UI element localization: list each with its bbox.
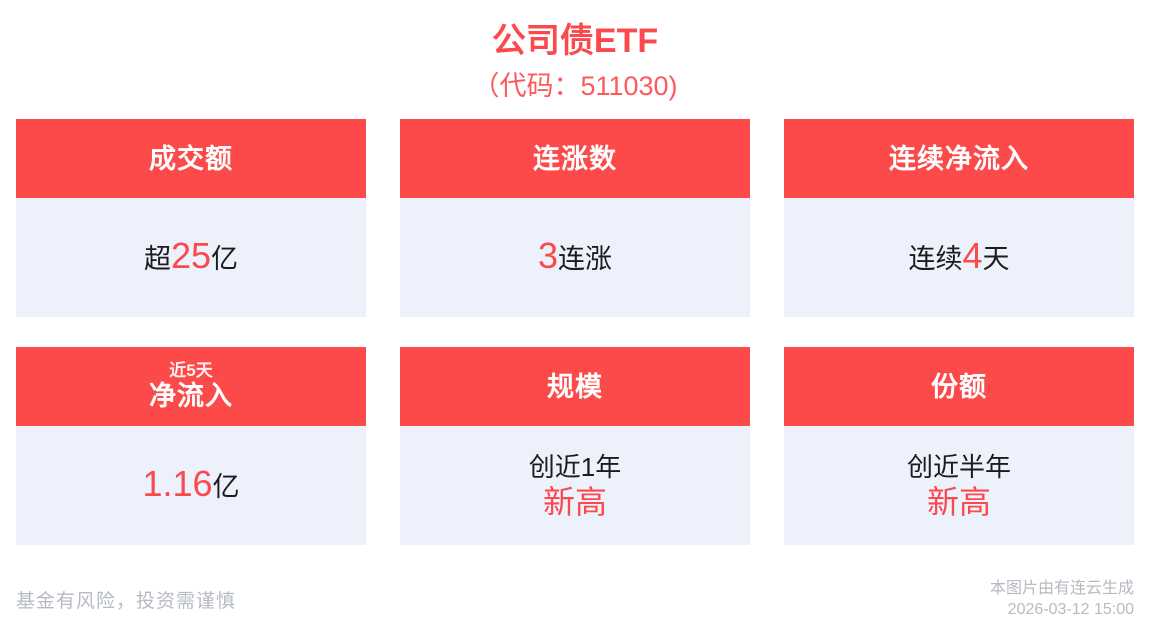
card-body-shares: 创近半年 新高 xyxy=(784,426,1134,545)
metric-card-five-day-net-inflow: 近5天 净流入 1.16亿 xyxy=(16,347,366,545)
card-body-consecutive-gains: 3连涨 xyxy=(400,198,750,317)
metric-card-turnover: 成交额 超25亿 xyxy=(16,119,366,317)
value-highlight: 1.16 xyxy=(142,467,212,501)
value-highlight: 3 xyxy=(538,239,558,273)
card-body-consecutive-inflow: 连续4天 xyxy=(784,198,1134,317)
page-footer: 基金有风险，投资需谨慎 本图片由有连云生成 2026-03-12 15:00 xyxy=(0,566,1150,632)
metric-card-consecutive-inflow: 连续净流入 连续4天 xyxy=(784,119,1134,317)
card-value-turnover: 超25亿 xyxy=(144,239,238,276)
value-highlight: 25 xyxy=(171,239,211,273)
card-label-consecutive-inflow: 连续净流入 xyxy=(889,143,1029,175)
credit-timestamp: 2026-03-12 15:00 xyxy=(990,599,1134,620)
page-title: 公司债ETF xyxy=(0,18,1150,64)
card-label-scale: 规模 xyxy=(547,371,603,403)
risk-disclaimer: 基金有风险，投资需谨慎 xyxy=(16,586,236,613)
generation-credit: 本图片由有连云生成 2026-03-12 15:00 xyxy=(990,578,1134,620)
card-header-consecutive-gains: 连涨数 xyxy=(400,119,750,198)
page-header: 公司债ETF （代码：511030) xyxy=(0,0,1150,106)
card-body-five-day-net-inflow: 1.16亿 xyxy=(16,426,366,545)
metric-card-scale: 规模 创近1年 新高 xyxy=(400,347,750,545)
card-value-consecutive-inflow: 连续4天 xyxy=(908,239,1009,276)
value-suffix: 连涨 xyxy=(558,242,612,276)
card-value-consecutive-gains: 3连涨 xyxy=(538,239,612,276)
value-suffix: 亿 xyxy=(213,470,240,504)
card-header-five-day-net-inflow: 近5天 净流入 xyxy=(16,347,366,426)
value-top: 创近1年 xyxy=(529,451,621,483)
card-label-net-inflow: 净流入 xyxy=(149,380,233,412)
value-top: 创近半年 xyxy=(907,451,1011,483)
value-bottom: 新高 xyxy=(927,483,991,521)
value-highlight: 4 xyxy=(962,239,982,273)
card-label-shares: 份额 xyxy=(931,371,987,403)
metric-card-consecutive-gains: 连涨数 3连涨 xyxy=(400,119,750,317)
credit-source: 本图片由有连云生成 xyxy=(990,578,1134,599)
card-kicker-five-day: 近5天 xyxy=(169,361,212,380)
value-suffix: 亿 xyxy=(211,242,238,276)
card-body-scale: 创近1年 新高 xyxy=(400,426,750,545)
metric-card-shares: 份额 创近半年 新高 xyxy=(784,347,1134,545)
fund-code-subtitle: （代码：511030) xyxy=(0,66,1150,106)
card-value-scale: 创近1年 新高 xyxy=(529,451,621,521)
value-prefix: 连续 xyxy=(908,242,962,276)
metric-card-grid: 成交额 超25亿 连涨数 3连涨 连续净流入 xyxy=(0,106,1150,566)
value-prefix: 超 xyxy=(144,242,171,276)
card-value-five-day-net-inflow: 1.16亿 xyxy=(142,467,239,504)
card-body-turnover: 超25亿 xyxy=(16,198,366,317)
card-value-shares: 创近半年 新高 xyxy=(907,451,1011,521)
card-header-consecutive-inflow: 连续净流入 xyxy=(784,119,1134,198)
value-suffix: 天 xyxy=(983,242,1010,276)
card-header-shares: 份额 xyxy=(784,347,1134,426)
card-header-turnover: 成交额 xyxy=(16,119,366,198)
infographic-page: 公司债ETF （代码：511030) 成交额 超25亿 连涨数 3连涨 xyxy=(0,0,1150,632)
value-bottom: 新高 xyxy=(543,483,607,521)
card-label-consecutive-gains: 连涨数 xyxy=(533,143,617,175)
card-header-scale: 规模 xyxy=(400,347,750,426)
card-label-turnover: 成交额 xyxy=(149,143,233,175)
